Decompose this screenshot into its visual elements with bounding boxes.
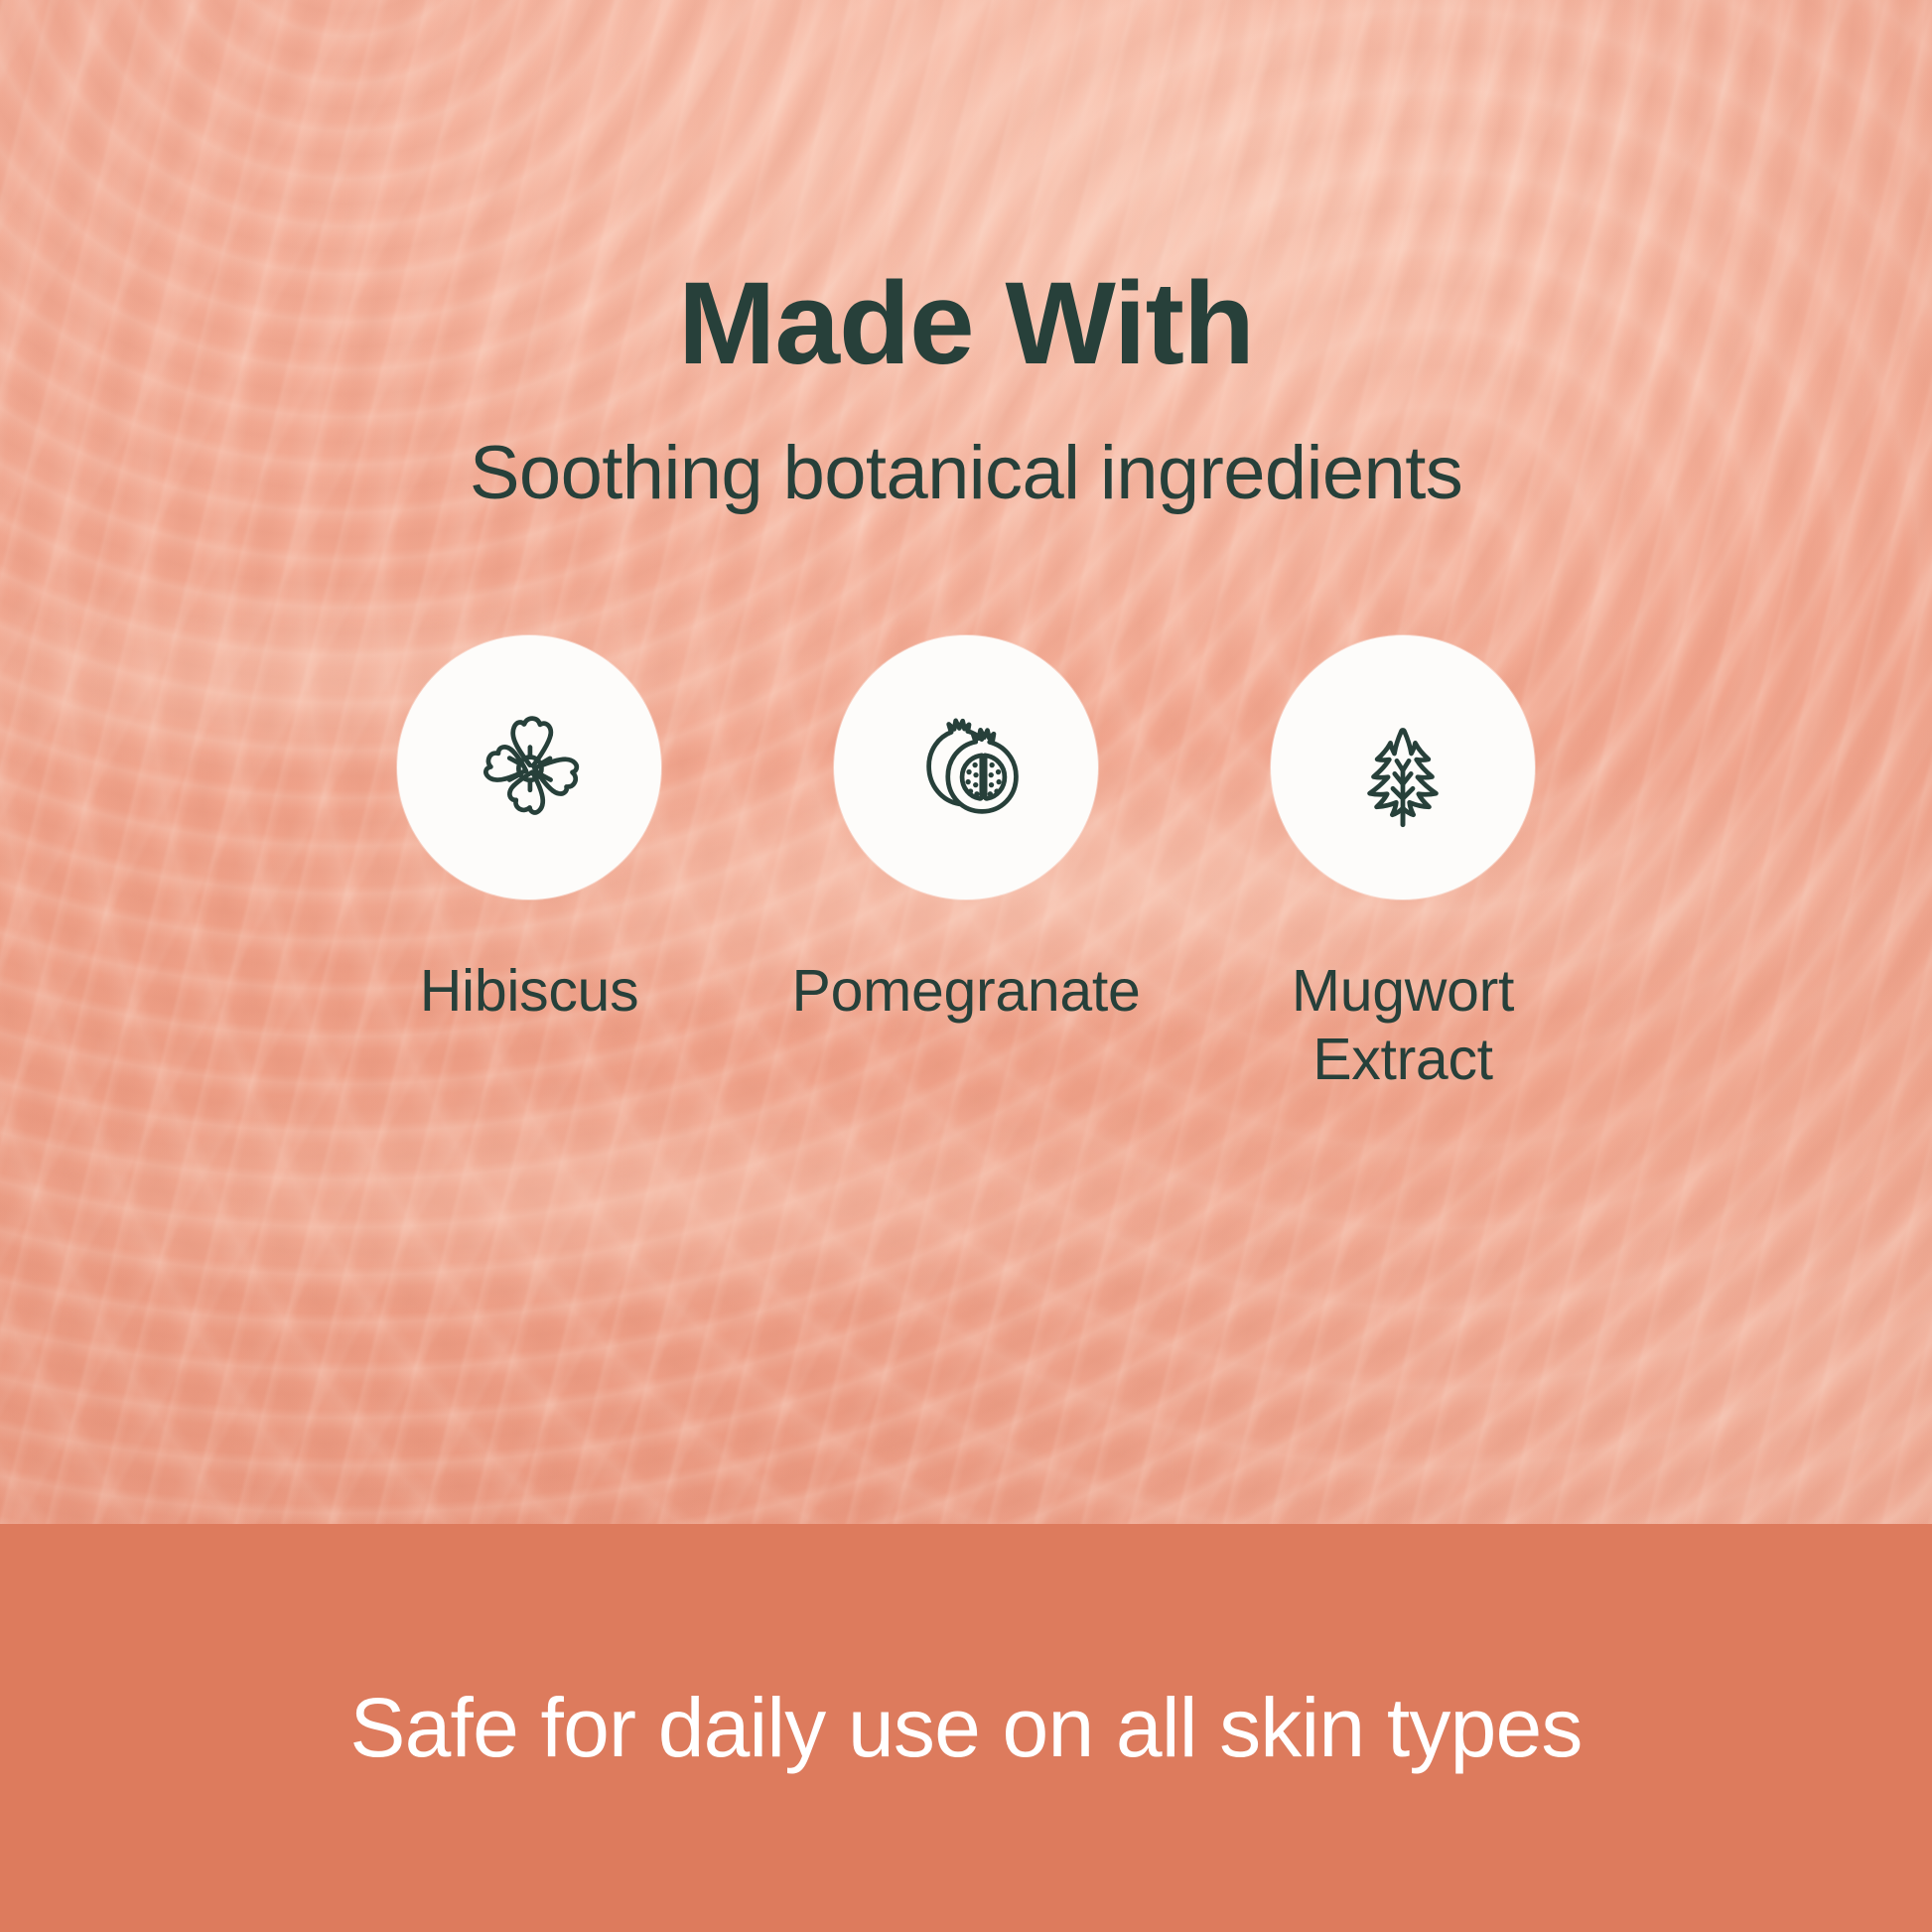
hibiscus-flower-icon (454, 692, 605, 843)
ingredient-item-mugwort-extract: Mugwort Extract (1224, 635, 1582, 1093)
ingredient-label: Mugwort Extract (1292, 957, 1514, 1093)
page-title: Made With (678, 263, 1254, 386)
pomegranate-icon (891, 692, 1041, 843)
product-ingredients-infographic: Made With Soothing botanical ingredients (0, 0, 1932, 1932)
ingredient-item-pomegranate: Pomegranate (787, 635, 1145, 1025)
ingredient-label: Hibiscus (420, 957, 639, 1025)
ingredient-icon-badge (1271, 635, 1535, 899)
ingredient-icon-badge (834, 635, 1098, 899)
ingredient-list: Hibiscus (162, 635, 1770, 1093)
ingredient-icon-badge (397, 635, 661, 899)
ingredient-label: Pomegranate (792, 957, 1141, 1025)
mugwort-leaf-icon (1327, 692, 1478, 843)
banner-claim-text: Safe for daily use on all skin types (349, 1680, 1582, 1776)
page-subtitle: Soothing botanical ingredients (470, 432, 1462, 515)
ingredient-item-hibiscus: Hibiscus (350, 635, 708, 1025)
bottom-claim-banner: Safe for daily use on all skin types (0, 1524, 1932, 1932)
